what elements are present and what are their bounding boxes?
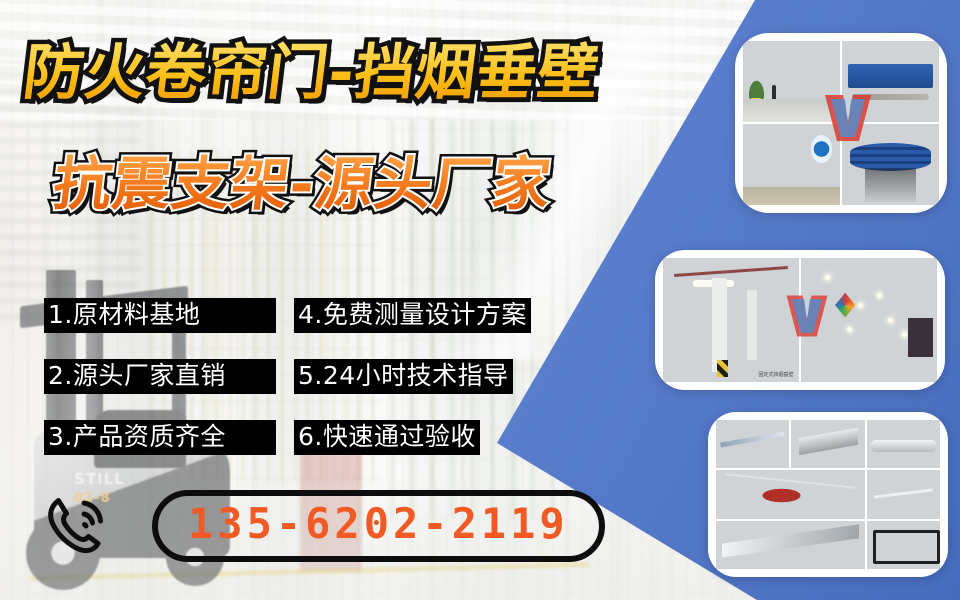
headline-secondary: 抗震支架-源头厂家 <box>50 152 555 216</box>
photo-duct-seismic-brace <box>716 521 865 569</box>
photo-caption: 固定式挡烟垂壁 <box>759 371 794 378</box>
phone-number[interactable]: 135-6202-2119 <box>188 498 569 550</box>
photo-downlight <box>858 303 863 308</box>
photo-downlight <box>877 293 882 298</box>
photo-column-far <box>747 290 757 359</box>
photo-fan-hanger-bracket <box>716 470 865 518</box>
photo-steel-shutter <box>743 124 840 205</box>
photo-plant <box>747 77 766 105</box>
photo-suspended-ceiling <box>801 258 937 382</box>
feature-item-2: 2.源头厂家直销 <box>44 359 276 394</box>
feature-row: 2.源头厂家直销 5.24小时技术指导 <box>44 359 564 394</box>
photo-coiled-shutter-drum <box>842 124 939 205</box>
feature-item-1: 1.原材料基地 <box>44 298 276 333</box>
photo-wall-sign <box>811 135 832 163</box>
phone-number-pill[interactable]: 135-6202-2119 <box>152 490 605 562</box>
photo-sprinkler-pipe <box>674 266 788 277</box>
feature-row: 3.产品资质齐全 6.快速通过验收 <box>44 420 564 455</box>
collage-fire-shutter-doors <box>735 33 947 213</box>
feature-item-3: 3.产品资质齐全 <box>44 420 276 455</box>
photo-bracket-detail <box>791 420 864 468</box>
collage-seismic-brackets <box>708 412 948 577</box>
feature-item-6: 6.快速通过验收 <box>294 420 480 455</box>
photo-parking-garage: 固定式挡烟垂壁 <box>663 258 799 382</box>
photo-steel-frame-support <box>867 521 940 569</box>
phone-ringing-icon <box>44 493 116 559</box>
feature-item-4: 4.免费测量设计方案 <box>294 298 531 333</box>
feature-item-5: 5.24小时技术指导 <box>294 359 513 394</box>
photo-rollforming-machine <box>842 41 939 122</box>
feature-row: 1.原材料基地 4.免费测量设计方案 <box>44 298 564 333</box>
photo-downlight <box>902 332 907 337</box>
photo-ceiling-fan-hanger <box>867 470 940 518</box>
photo-planter <box>750 98 763 106</box>
photo-downlight <box>825 275 830 280</box>
advertisement-poster: STILL 02-8 <box>0 0 960 600</box>
photo-wall-screen <box>908 318 932 358</box>
contact-block: 135-6202-2119 <box>44 490 605 562</box>
photo-blue-fire-shutter-door <box>743 41 840 122</box>
feature-list: 1.原材料基地 4.免费测量设计方案 2.源头厂家直销 5.24小时技术指导 3… <box>44 298 564 481</box>
collage-smoke-barrier: 固定式挡烟垂壁 <box>655 250 945 390</box>
photo-pipe-clamp <box>867 420 940 468</box>
photo-person <box>772 85 776 104</box>
photo-downlight <box>847 327 852 332</box>
photo-kite-decoration <box>835 293 855 318</box>
photo-ceiling-pipe-bracket <box>716 420 789 468</box>
photo-downlight <box>888 318 893 323</box>
photo-column-near <box>712 278 727 372</box>
photo-hazard-stripe <box>717 360 728 377</box>
headline-primary: 防火卷帘门-挡烟垂壁 <box>20 40 603 106</box>
